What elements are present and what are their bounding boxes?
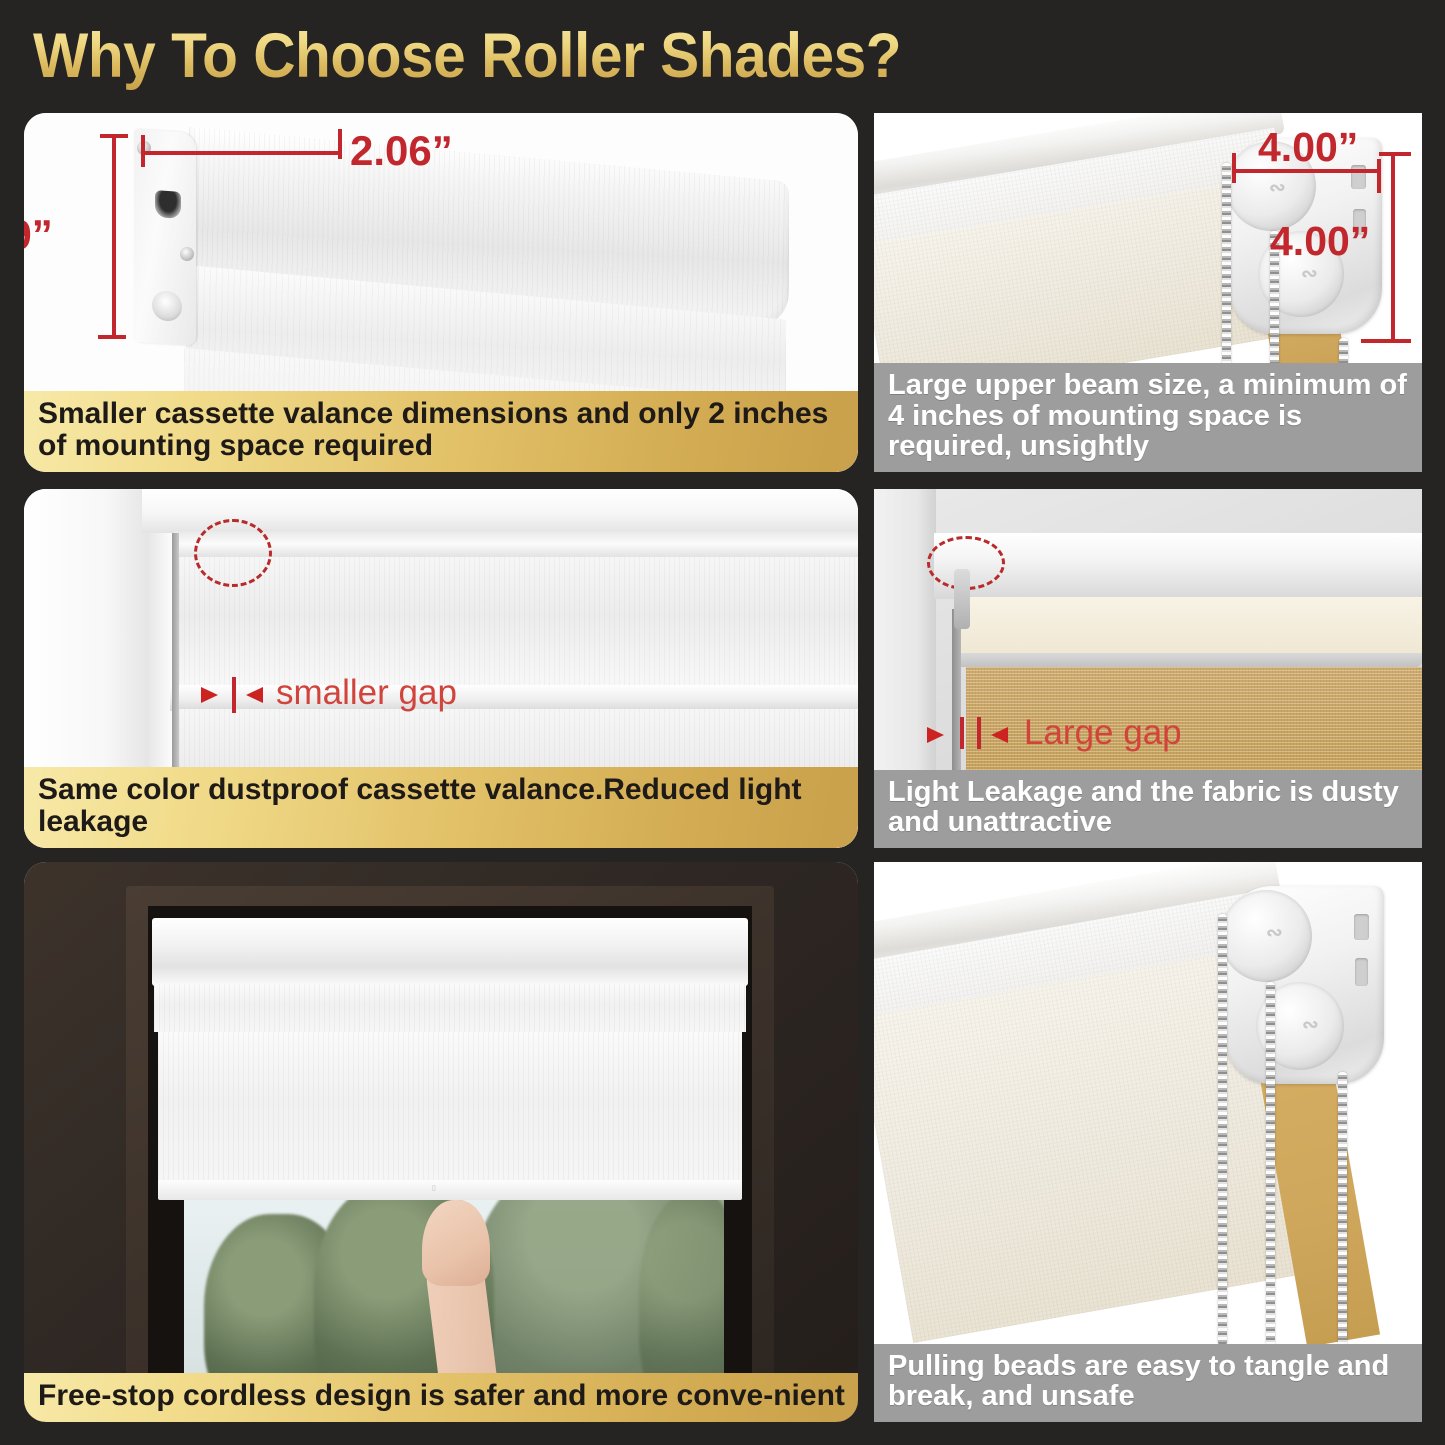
gap-arrow-right	[991, 727, 1008, 743]
shade-fabric-upper	[174, 557, 858, 687]
panel-pulling-beads: ∾ ∾ Pulling beads are easy to tangle and…	[874, 862, 1422, 1422]
bead-chain-mid	[1266, 982, 1275, 1346]
shade-fabric	[158, 1032, 742, 1184]
width-dimension-tick-left	[141, 135, 145, 167]
bracket-clip	[954, 569, 970, 629]
height-dimension-label: 5.49”	[24, 211, 53, 259]
panel-caption: Smaller cassette valance dimensions and …	[24, 391, 858, 472]
panel-light-leakage: Large gap Light Leakage and the fabric i…	[874, 489, 1422, 848]
bracket-slot-top	[1354, 914, 1369, 940]
beam-width-tick-left	[1232, 153, 1236, 183]
shade-upper-panel	[154, 984, 746, 1032]
gap-tick-a	[960, 717, 964, 749]
width-dimension-line	[142, 151, 342, 155]
bead-chain-left	[1218, 914, 1227, 1346]
bracket-logo-upper: ∾	[1266, 920, 1283, 945]
shade-mid-rail	[170, 685, 858, 711]
panel-caption: Pulling beads are easy to tangle and bre…	[874, 1344, 1422, 1422]
beam-height-line	[1391, 153, 1395, 343]
panel-large-upper-beam: ∾ ∾ 4.00” 4.00” Large upper beam size, a…	[874, 113, 1422, 472]
gap-callout-label: smaller gap	[276, 673, 457, 713]
cassette-valance	[152, 918, 748, 986]
height-dimension-line	[112, 135, 116, 339]
panel-cassette-dimensions: 2.06” 5.49” Smaller cassette valance dim…	[24, 113, 858, 472]
bead-chain-right	[1338, 1072, 1347, 1346]
panel-caption: Free-stop cordless design is safer and m…	[24, 1373, 858, 1422]
gap-arrow-left	[927, 727, 944, 743]
valance-screw-mid	[180, 247, 194, 261]
shade-brand-mark: ▯	[432, 1184, 436, 1192]
panel-caption: Light Leakage and the fabric is dusty an…	[874, 770, 1422, 848]
gap-tick	[232, 677, 236, 713]
bracket-logo-lower: ∾	[1302, 1012, 1319, 1037]
beam-width-tick-right	[1377, 159, 1381, 193]
upper-beam	[934, 533, 1422, 599]
panel-caption: Same color dustproof cassette valance.Re…	[24, 767, 858, 848]
cream-fabric-band	[960, 597, 1422, 655]
page-title: Why To Choose Roller Shades?	[33, 20, 1056, 92]
cordless-shade-photo: ▯	[24, 862, 858, 1422]
highlight-circle	[194, 519, 272, 587]
infographic-page: Why To Choose Roller Shades? 2.06” 5.49”…	[0, 0, 1445, 1445]
hand	[422, 1200, 490, 1286]
gap-callout-label: Large gap	[1024, 713, 1182, 753]
height-dimension-tick-top	[100, 134, 128, 138]
gap-arrow-left	[201, 687, 218, 703]
valance-slot	[155, 190, 181, 219]
panel-caption: Large upper beam size, a minimum of 4 in…	[874, 363, 1422, 472]
panel-cordless-design: ▯ Free-stop cordless design is safer and…	[24, 862, 858, 1422]
cassette-valance	[174, 531, 858, 559]
bracket-slot-bottom	[1355, 958, 1368, 986]
width-dimension-label: 2.06”	[350, 127, 453, 175]
height-dimension-tick-bottom	[98, 335, 126, 339]
width-dimension-tick-right	[338, 129, 342, 159]
shade-bottom-rail	[158, 1180, 742, 1200]
gap-tick-b	[977, 717, 981, 749]
bracket-logo-upper: ∾	[1269, 175, 1286, 200]
pulling-beads-photo: ∾ ∾	[874, 862, 1422, 1422]
beam-width-label: 4.00”	[1258, 124, 1358, 171]
panel-smaller-gap: smaller gap Same color dustproof cassett…	[24, 489, 858, 848]
beam-height-tick-top	[1379, 152, 1411, 156]
beam-bottom-edge	[958, 653, 1422, 667]
gap-arrow-right	[246, 687, 263, 703]
beam-height-label: 4.00”	[1270, 218, 1370, 265]
beam-height-tick-bottom	[1361, 339, 1411, 343]
